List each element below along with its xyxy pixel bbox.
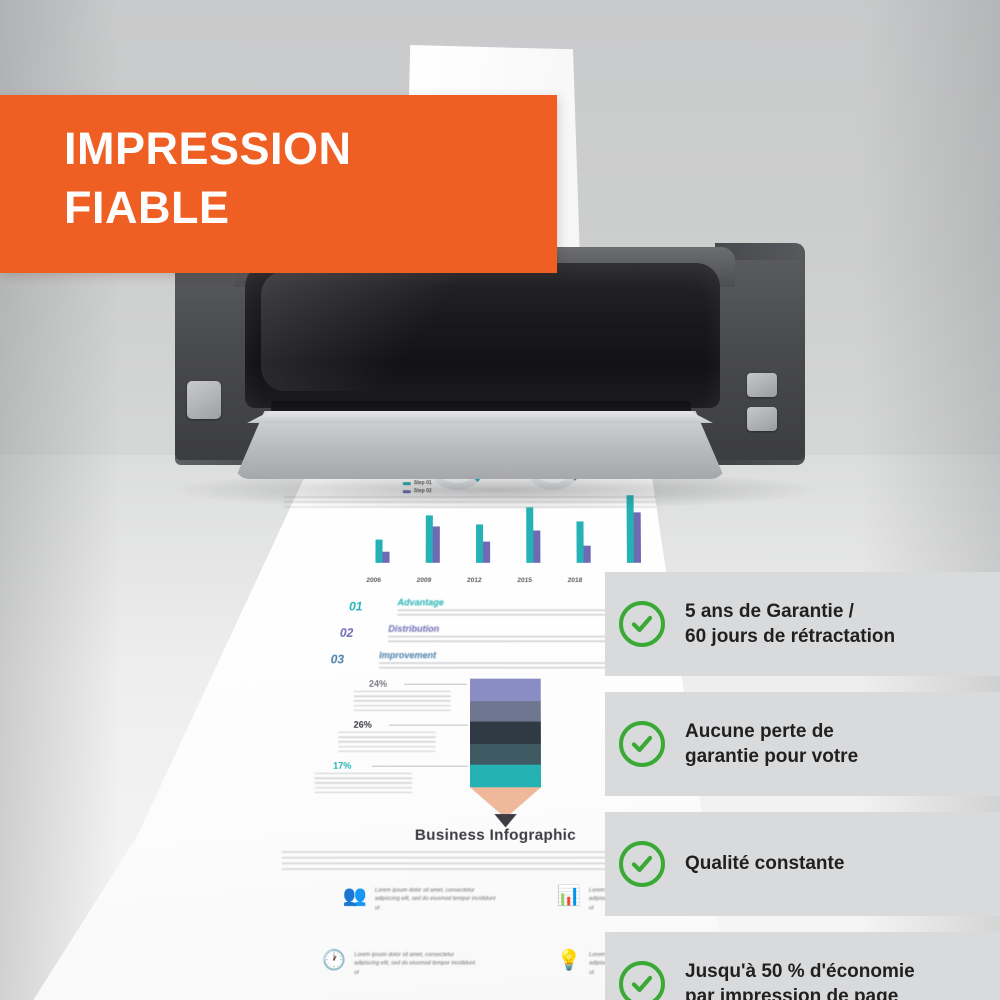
feature-text: Jusqu'à 50 % d'économiepar impression de…	[685, 959, 915, 1000]
clock-icon: 🕐	[322, 951, 346, 971]
info-feature-1: 👥Lorem ipsum dolor sit amet, consectetur…	[343, 886, 498, 911]
bar-step-01	[526, 508, 533, 563]
bar-group	[375, 540, 389, 563]
checkmark-icon	[629, 971, 655, 997]
check-circle-icon	[619, 601, 665, 647]
feature-list: 5 ans de Garantie /60 jours de rétractat…	[605, 572, 1000, 1000]
info-feature-text: Lorem ipsum dolor sit amet, consectetur …	[375, 886, 497, 911]
pyramid-chart	[470, 679, 541, 812]
bar-step-01	[375, 540, 382, 563]
feature-line-1: Qualité constante	[685, 851, 844, 876]
feature-line-1: Aucune perte de	[685, 719, 858, 744]
axis-tick-label: 2009	[416, 577, 431, 584]
headline-line-2: FIABLE	[64, 178, 534, 237]
bar-step-02	[483, 541, 490, 562]
bar-chart-icon: 📊	[557, 886, 581, 906]
bar-step-01	[426, 515, 433, 563]
feature-line-2: garantie pour votre	[685, 744, 858, 769]
bar-group	[526, 508, 540, 563]
step-title: Distribution	[388, 624, 439, 634]
pyramid-pct-3: 17%	[333, 761, 351, 771]
bar-step-02	[382, 552, 389, 563]
lightbulb-icon: 💡	[557, 951, 581, 971]
pyramid-caption-1	[354, 691, 451, 713]
check-circle-icon	[619, 841, 665, 887]
headline-text: IMPRESSION FIABLE	[64, 119, 534, 238]
checkmark-icon	[629, 611, 655, 637]
bar-group	[426, 515, 440, 563]
people-icon: 👥	[343, 886, 367, 906]
axis-tick-label: 2006	[366, 577, 381, 584]
feature-text: 5 ans de Garantie /60 jours de rétractat…	[685, 599, 895, 650]
bar-step-02	[533, 531, 540, 563]
bar-step-01	[476, 524, 483, 562]
info-feature-3: 🕐Lorem ipsum dolor sit amet, consectetur…	[322, 951, 477, 976]
bar-group	[476, 524, 490, 562]
step-number: 02	[340, 626, 354, 640]
printer-power-button[interactable]	[187, 381, 221, 419]
bar-group	[576, 521, 590, 562]
axis-tick-label: 2015	[517, 577, 532, 584]
info-feature-text: Lorem ipsum dolor sit amet, consectetur …	[354, 951, 477, 976]
check-circle-icon	[619, 961, 665, 1000]
promo-image: Material Infographic 38% 37% Step 01 Ste…	[0, 0, 1000, 1000]
bar-step-02	[433, 526, 440, 563]
printer-button-top[interactable]	[747, 373, 777, 397]
bar-step-02	[634, 512, 641, 563]
step-number: 01	[349, 599, 363, 613]
pyramid-caption-2	[338, 732, 435, 755]
pyramid-caption-3	[315, 773, 412, 796]
pyramid-pct-2: 26%	[354, 720, 372, 730]
printer-tray-lip	[247, 411, 713, 423]
bar-step-01	[576, 521, 583, 562]
axis-tick-label: 2012	[467, 577, 482, 584]
feature-line-1: 5 ans de Garantie /	[685, 599, 895, 624]
checkmark-icon	[629, 731, 655, 757]
business-infographic-title: Business Infographic	[343, 826, 648, 844]
feature-line-2: 60 jours de rétractation	[685, 624, 895, 649]
feature-item: Jusqu'à 50 % d'économiepar impression de…	[605, 932, 1000, 1000]
step-number: 03	[331, 652, 345, 666]
pyramid-connector-2	[389, 725, 468, 726]
pyramid-pct-1: 24%	[369, 679, 387, 689]
feature-line-2: par impression de page	[685, 984, 915, 1000]
step-text-placeholder	[379, 662, 632, 671]
axis-tick-label: 2018	[567, 577, 582, 584]
feature-item: 5 ans de Garantie /60 jours de rétractat…	[605, 572, 1000, 676]
bar-step-02	[584, 546, 591, 563]
feature-item: Qualité constante	[605, 812, 1000, 916]
pyramid-connector-1	[404, 684, 467, 685]
headline-banner: IMPRESSION FIABLE	[0, 95, 557, 273]
printer-drum-highlight	[261, 271, 471, 391]
feature-text: Aucune perte degarantie pour votre	[685, 719, 858, 770]
step-title: Improvement	[379, 650, 436, 660]
headline-line-1: IMPRESSION	[64, 119, 534, 178]
printer-button-bottom[interactable]	[747, 407, 777, 431]
feature-text: Qualité constante	[685, 851, 844, 876]
checkmark-icon	[629, 851, 655, 877]
step-title: Advantage	[397, 597, 443, 607]
step-text-placeholder	[388, 636, 640, 645]
check-circle-icon	[619, 721, 665, 767]
feature-item: Aucune perte degarantie pour votre	[605, 692, 1000, 796]
footer-paragraph-placeholder	[282, 851, 659, 874]
pyramid-connector-3	[372, 766, 468, 767]
feature-line-1: Jusqu'à 50 % d'économie	[685, 959, 915, 984]
